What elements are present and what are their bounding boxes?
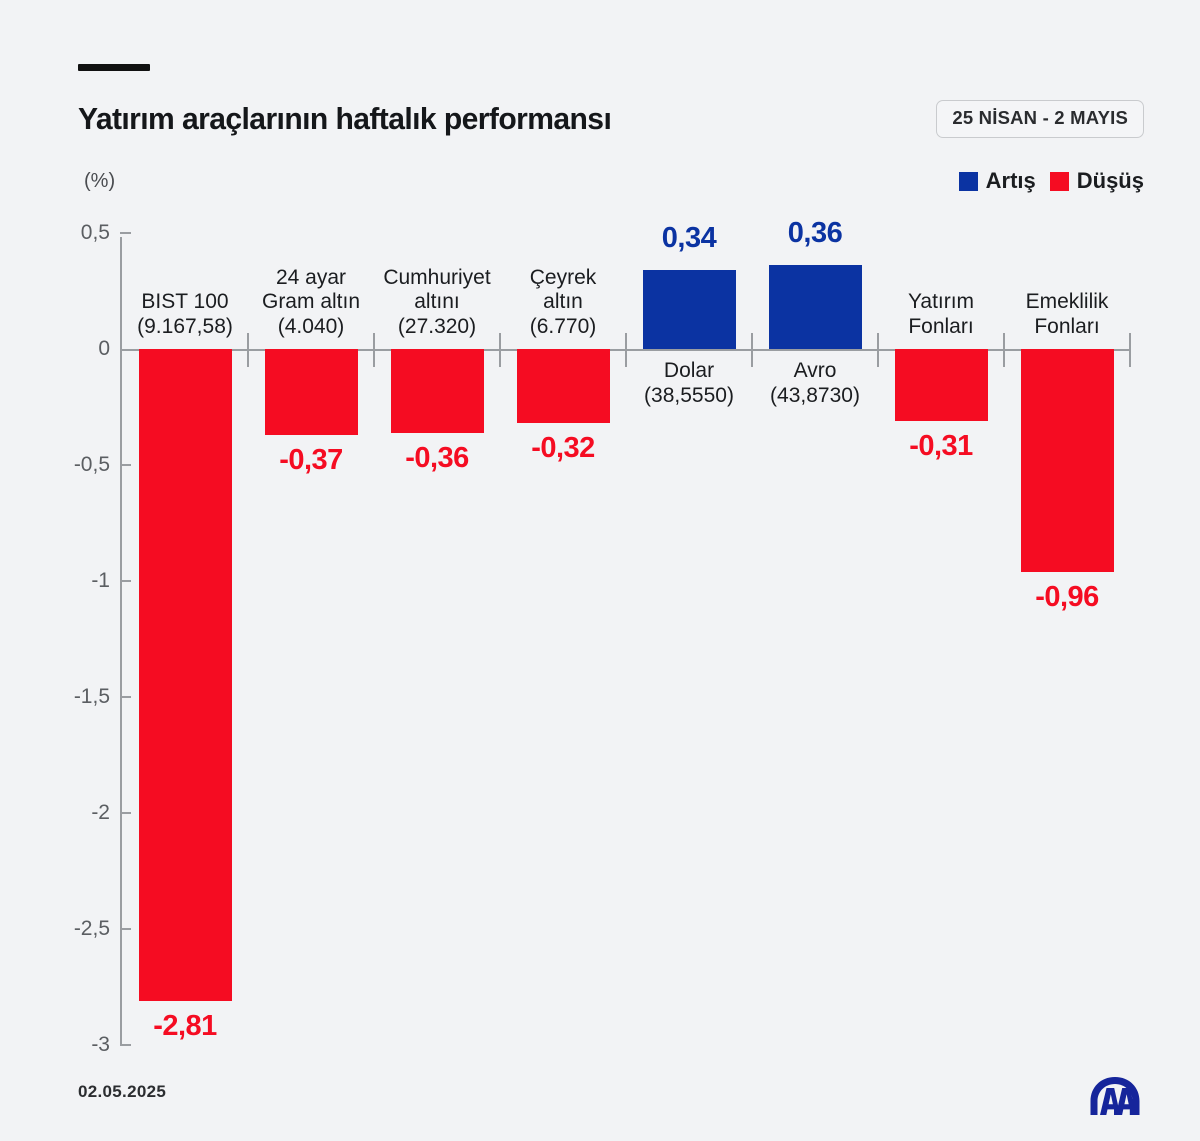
x-axis-divider bbox=[247, 333, 249, 367]
footer-date: 02.05.2025 bbox=[78, 1082, 166, 1102]
y-tick-mark bbox=[120, 696, 131, 698]
y-tick-label: 0 bbox=[56, 337, 110, 361]
category-label-line: altın bbox=[530, 290, 597, 315]
bar-value-label: -0,96 bbox=[1035, 581, 1099, 614]
bar-6[interactable] bbox=[769, 265, 862, 349]
category-label: BIST 100(9.167,58) bbox=[137, 290, 233, 339]
y-tick-label: -2 bbox=[56, 801, 110, 825]
category-label: EmeklilikFonları bbox=[1026, 290, 1109, 339]
category-label-line: (27.320) bbox=[383, 315, 490, 340]
bar-value-label: 0,34 bbox=[662, 222, 716, 255]
x-axis-divider bbox=[373, 333, 375, 367]
x-axis-divider bbox=[625, 333, 627, 367]
category-label-line: Gram altın bbox=[262, 290, 360, 315]
category-label-line: 24 ayar bbox=[262, 266, 360, 291]
aa-anadolu-agency-logo bbox=[1084, 1074, 1146, 1118]
category-label: Çeyrekaltın(6.770) bbox=[530, 266, 597, 340]
category-label-line: Yatırım bbox=[908, 290, 974, 315]
y-axis-line bbox=[120, 237, 122, 1045]
y-tick-mark bbox=[120, 580, 131, 582]
y-tick-mark bbox=[120, 464, 131, 466]
bar-8[interactable] bbox=[1021, 349, 1114, 572]
y-tick-label: -0,5 bbox=[56, 453, 110, 477]
y-tick-label: -1 bbox=[56, 569, 110, 593]
y-tick-label: -2,5 bbox=[56, 917, 110, 941]
category-label-line: Avro bbox=[770, 359, 860, 384]
bar-value-label: 0,36 bbox=[788, 217, 842, 250]
bar-4[interactable] bbox=[517, 349, 610, 423]
y-tick-mark bbox=[120, 928, 131, 930]
bar-value-label: -0,31 bbox=[909, 430, 973, 463]
x-axis-divider bbox=[1129, 333, 1131, 367]
category-label-line: Dolar bbox=[644, 359, 734, 384]
category-label-line: Emeklilik bbox=[1026, 290, 1109, 315]
bar-value-label: -2,81 bbox=[153, 1010, 217, 1043]
category-label: YatırımFonları bbox=[908, 290, 974, 339]
category-label-line: (38,5550) bbox=[644, 384, 734, 409]
y-tick-mark bbox=[120, 812, 131, 814]
category-label: 24 ayarGram altın(4.040) bbox=[262, 266, 360, 340]
category-label: Dolar(38,5550) bbox=[644, 359, 734, 408]
y-tick-mark bbox=[120, 1044, 131, 1046]
bar-value-label: -0,32 bbox=[531, 432, 595, 465]
category-label-line: Fonları bbox=[1026, 315, 1109, 340]
x-axis-divider bbox=[499, 333, 501, 367]
category-label: Cumhuriyetaltını(27.320) bbox=[383, 266, 490, 340]
bar-value-label: -0,37 bbox=[279, 444, 343, 477]
bar-5[interactable] bbox=[643, 270, 736, 349]
category-label-line: (43,8730) bbox=[770, 384, 860, 409]
category-label: Avro(43,8730) bbox=[770, 359, 860, 408]
y-tick-label: -3 bbox=[56, 1033, 110, 1057]
bar-1[interactable] bbox=[139, 349, 232, 1001]
y-tick-label: -1,5 bbox=[56, 685, 110, 709]
x-axis-divider bbox=[877, 333, 879, 367]
y-tick-mark bbox=[120, 232, 131, 234]
bar-value-label: -0,36 bbox=[405, 442, 469, 475]
y-tick-label: 0,5 bbox=[56, 221, 110, 245]
category-label-line: (9.167,58) bbox=[137, 315, 233, 340]
category-label-line: Fonları bbox=[908, 315, 974, 340]
category-label-line: (6.770) bbox=[530, 315, 597, 340]
x-axis-divider bbox=[1003, 333, 1005, 367]
bar-3[interactable] bbox=[391, 349, 484, 433]
category-label-line: Çeyrek bbox=[530, 266, 597, 291]
category-label-line: Cumhuriyet bbox=[383, 266, 490, 291]
category-label-line: (4.040) bbox=[262, 315, 360, 340]
category-label-line: altını bbox=[383, 290, 490, 315]
category-label-line: BIST 100 bbox=[137, 290, 233, 315]
bar-7[interactable] bbox=[895, 349, 988, 421]
bar-2[interactable] bbox=[265, 349, 358, 435]
bar-chart-plot: 0,50-0,5-1-1,5-2-2,5-3 -2,81-0,37-0,36-0… bbox=[0, 0, 1200, 1141]
x-axis-divider bbox=[751, 333, 753, 367]
